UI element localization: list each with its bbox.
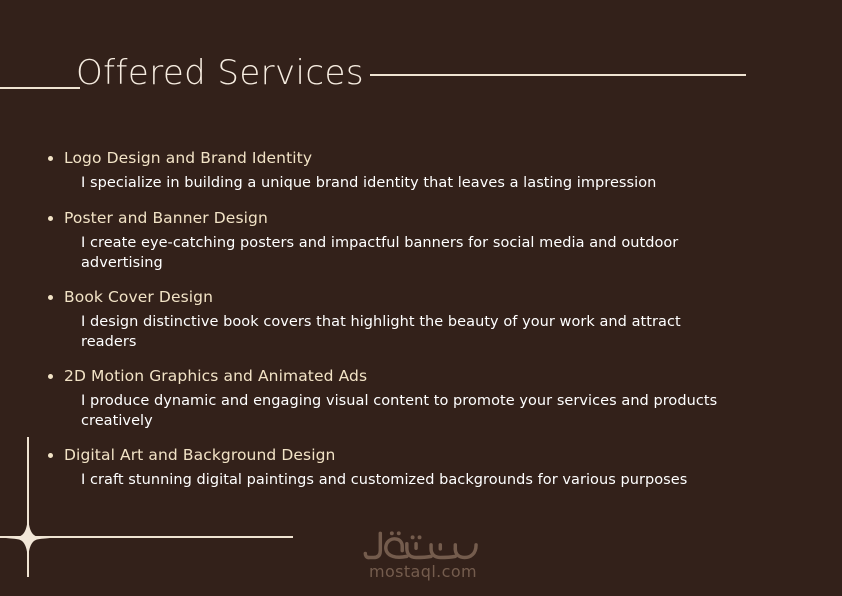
mostaql-watermark: mostaql.com (363, 531, 483, 585)
four-point-sparkle-icon (6, 516, 50, 560)
ornament-horizontal-rule (0, 536, 293, 538)
service-title: Digital Art and Background Design (46, 443, 786, 467)
list-item: Digital Art and Background Design I craf… (46, 443, 786, 490)
service-title-text: Book Cover Design (64, 288, 213, 306)
bullet-icon (48, 453, 53, 458)
service-description: I produce dynamic and engaging visual co… (81, 391, 721, 431)
service-description: I craft stunning digital paintings and c… (81, 470, 721, 490)
service-title: Logo Design and Brand Identity (46, 146, 786, 170)
title-rule-left (0, 87, 80, 89)
slide-header: Offered Services (0, 48, 842, 100)
service-title-text: 2D Motion Graphics and Animated Ads (64, 367, 367, 385)
service-title-text: Digital Art and Background Design (64, 446, 335, 464)
service-title-text: Poster and Banner Design (64, 209, 268, 227)
service-description: I design distinctive book covers that hi… (81, 312, 721, 352)
bullet-icon (48, 295, 53, 300)
list-item: Book Cover Design I design distinctive b… (46, 285, 786, 352)
services-list: Logo Design and Brand Identity I special… (46, 146, 786, 490)
service-title: 2D Motion Graphics and Animated Ads (46, 364, 786, 388)
list-item: 2D Motion Graphics and Animated Ads I pr… (46, 364, 786, 431)
mostaql-domain-text: mostaql.com (363, 562, 483, 581)
mostaql-arabic-logo-icon (363, 531, 478, 561)
service-title-text: Logo Design and Brand Identity (64, 149, 312, 167)
ornament-vertical-rule (27, 437, 29, 577)
bullet-icon (48, 374, 53, 379)
bullet-icon (48, 216, 53, 221)
bullet-icon (48, 156, 53, 161)
service-description: I create eye-catching posters and impact… (81, 233, 721, 273)
list-item: Poster and Banner Design I create eye-ca… (46, 206, 786, 273)
service-title: Poster and Banner Design (46, 206, 786, 230)
slide-canvas: Offered Services Logo Design and Brand I… (0, 0, 842, 596)
service-description: I specialize in building a unique brand … (81, 173, 721, 193)
list-item: Logo Design and Brand Identity I special… (46, 146, 786, 193)
title-rule-right (370, 74, 746, 76)
page-title: Offered Services (76, 48, 364, 98)
service-title: Book Cover Design (46, 285, 786, 309)
